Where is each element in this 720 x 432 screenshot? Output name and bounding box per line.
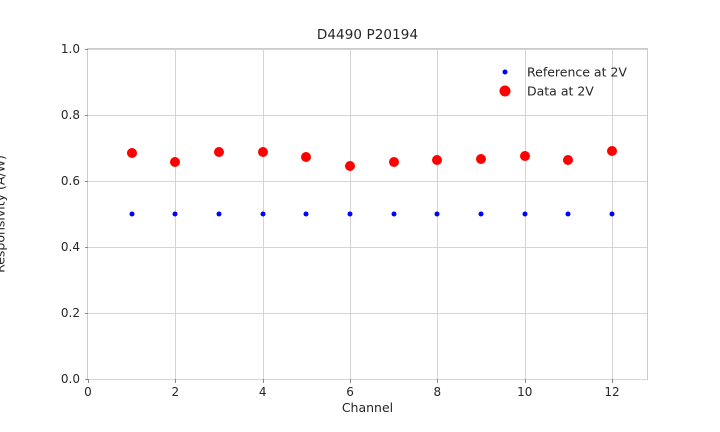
gridline-horizontal [88,115,647,116]
data-point-marker [607,146,617,156]
data-point-marker [170,157,180,167]
legend-item: Reference at 2V [492,62,668,81]
legend: Reference at 2VData at 2V [492,62,668,100]
y-tick-mark [85,313,89,314]
gridline-horizontal [88,247,647,248]
x-tick-mark [437,379,438,383]
y-tick-mark [85,115,89,116]
x-tick-mark [612,379,613,383]
y-tick-label: 0.6 [61,174,80,188]
data-point-marker [304,212,309,217]
x-tick-mark [525,379,526,383]
data-point-marker [173,212,178,217]
y-tick-label: 0.4 [61,240,80,254]
y-tick-label: 0.0 [61,372,80,386]
data-point-marker [476,154,486,164]
legend-marker-icon [503,69,508,74]
x-tick-mark [175,379,176,383]
x-tick-label: 10 [517,385,532,399]
data-point-marker [214,147,224,157]
x-tick-mark [350,379,351,383]
legend-label: Data at 2V [527,83,594,98]
data-point-marker [258,147,268,157]
x-tick-label: 12 [604,385,619,399]
chart-figure: D4490 P20194 0.00.20.40.60.81.0024681012… [0,0,720,432]
page-title: D4490 P20194 [87,27,648,43]
legend-item: Data at 2V [492,81,668,100]
data-point-marker [566,212,571,217]
x-tick-label: 8 [434,385,442,399]
y-axis-label: Responsivity (A/W) [0,114,8,314]
data-point-marker [435,212,440,217]
data-point-marker [520,151,530,161]
legend-label: Reference at 2V [527,64,627,79]
legend-marker-icon [500,85,511,96]
y-tick-label: 0.2 [61,306,80,320]
data-point-marker [391,212,396,217]
data-point-marker [127,148,137,158]
x-tick-label: 2 [172,385,180,399]
y-tick-label: 1.0 [61,42,80,56]
y-tick-label: 0.8 [61,108,80,122]
data-point-marker [432,155,442,165]
gridline-horizontal [88,313,647,314]
data-point-marker [345,161,355,171]
data-point-marker [348,212,353,217]
y-tick-mark [85,181,89,182]
x-axis-label: Channel [87,400,648,415]
gridline-horizontal [88,49,647,50]
gridline-horizontal [88,181,647,182]
data-point-marker [479,212,484,217]
y-tick-mark [85,49,89,50]
x-tick-mark [88,379,89,383]
y-tick-mark [85,247,89,248]
data-point-marker [563,155,573,165]
data-point-marker [129,212,134,217]
data-point-marker [217,212,222,217]
data-point-marker [522,212,527,217]
gridline-horizontal [88,379,647,380]
x-tick-mark [263,379,264,383]
x-tick-label: 0 [84,385,92,399]
data-point-marker [260,212,265,217]
x-tick-label: 4 [259,385,267,399]
data-point-marker [610,212,615,217]
x-tick-label: 6 [346,385,354,399]
data-point-marker [389,157,399,167]
data-point-marker [301,152,311,162]
